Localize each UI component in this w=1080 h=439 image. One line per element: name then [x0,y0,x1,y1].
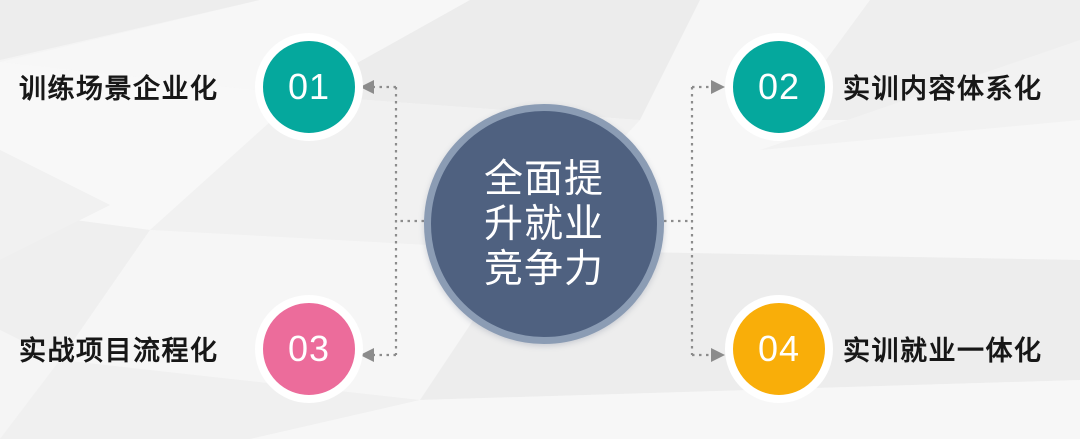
node-number-04: 04 [758,331,800,367]
node-circle-03[interactable]: 03 [255,295,363,403]
node-number-02: 02 [758,69,800,105]
arrowhead-node-02 [711,80,725,94]
center-hub: 全面提 升就业 竞争力 [424,104,664,344]
node-label-04: 实训就业一体化 [843,338,1043,365]
diagram-canvas: 全面提 升就业 竞争力 01 训练场景企业化 02 实训内容体系化 03 实战项… [0,0,1080,439]
node-number-03: 03 [288,331,330,367]
node-label-02: 实训内容体系化 [843,76,1043,103]
node-number-01: 01 [288,69,330,105]
node-label-01: 训练场景企业化 [19,76,219,103]
node-circle-01[interactable]: 01 [255,33,363,141]
node-circle-04[interactable]: 04 [725,295,833,403]
center-hub-text: 全面提 升就业 竞争力 [484,157,604,292]
node-label-03: 实战项目流程化 [19,338,219,365]
arrowhead-node-04 [711,348,725,362]
node-circle-02[interactable]: 02 [725,33,833,141]
